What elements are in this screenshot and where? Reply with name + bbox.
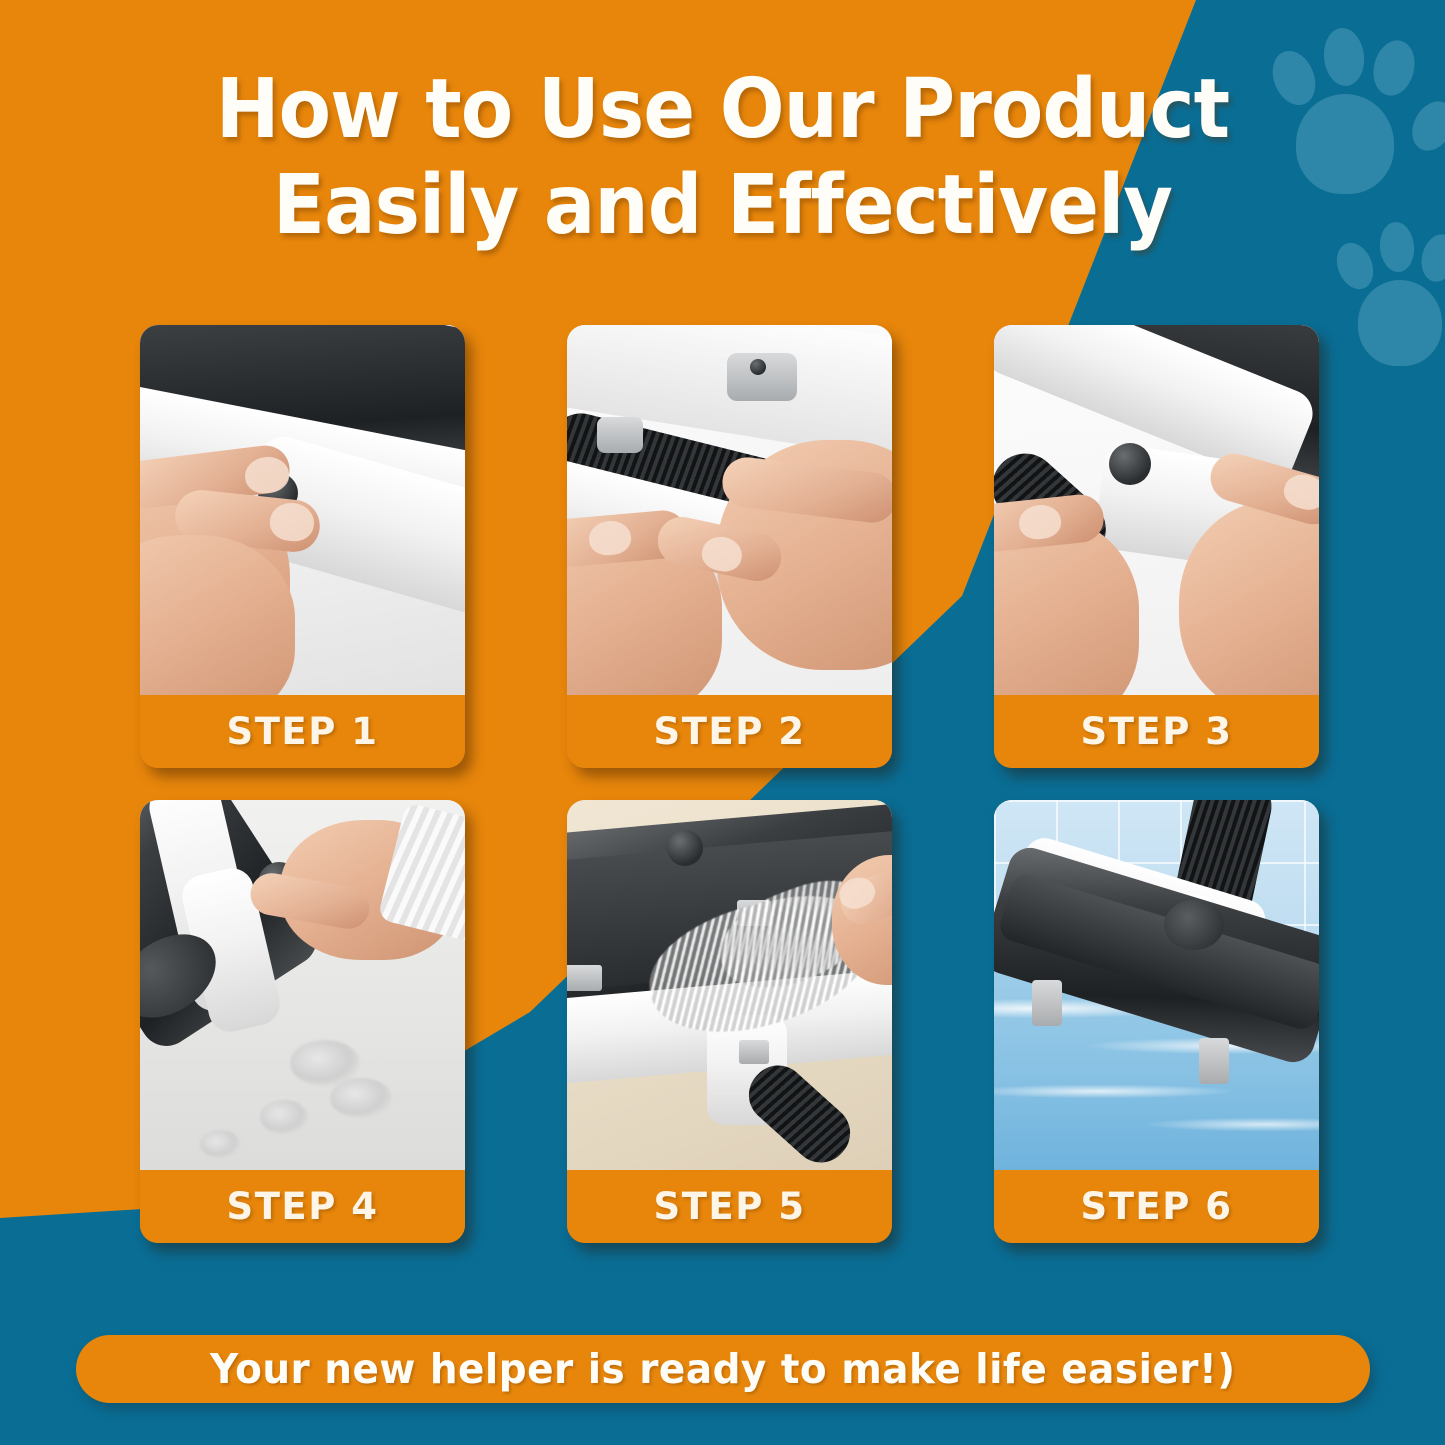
step-photo-6 [994,800,1319,1170]
step-card-5[interactable]: STEP 5 [567,800,892,1243]
step-photo-3 [994,325,1319,695]
footer-banner: Your new helper is ready to make life ea… [76,1335,1370,1403]
step-card-6[interactable]: STEP 6 [994,800,1319,1243]
step-label-text: STEP 5 [654,1185,806,1228]
step-photo-5 [567,800,892,1170]
step-photo-2 [567,325,892,695]
step-label-text: STEP 1 [227,710,379,753]
infographic-poster: How to Use Our Product Easily and Effect… [0,0,1445,1445]
step-label-5: STEP 5 [567,1170,892,1243]
step-label-4: STEP 4 [140,1170,465,1243]
step-photo-1 [140,325,465,695]
page-title: How to Use Our Product Easily and Effect… [0,62,1445,254]
step-label-3: STEP 3 [994,695,1319,768]
step-card-4[interactable]: STEP 4 [140,800,465,1243]
step-card-1[interactable]: STEP 1 [140,325,465,768]
step-card-3[interactable]: STEP 3 [994,325,1319,768]
step-label-6: STEP 6 [994,1170,1319,1243]
step-card-2[interactable]: STEP 2 [567,325,892,768]
steps-grid: STEP 1 [140,325,1320,1243]
step-label-text: STEP 2 [654,710,806,753]
step-label-text: STEP 3 [1081,710,1233,753]
step-label-1: STEP 1 [140,695,465,768]
step-photo-4 [140,800,465,1170]
title-line-1: How to Use Our Product [51,62,1395,158]
footer-banner-text: Your new helper is ready to make life ea… [210,1345,1236,1393]
title-line-2: Easily and Effectively [51,158,1395,254]
step-label-text: STEP 4 [227,1185,379,1228]
step-label-2: STEP 2 [567,695,892,768]
step-label-text: STEP 6 [1081,1185,1233,1228]
